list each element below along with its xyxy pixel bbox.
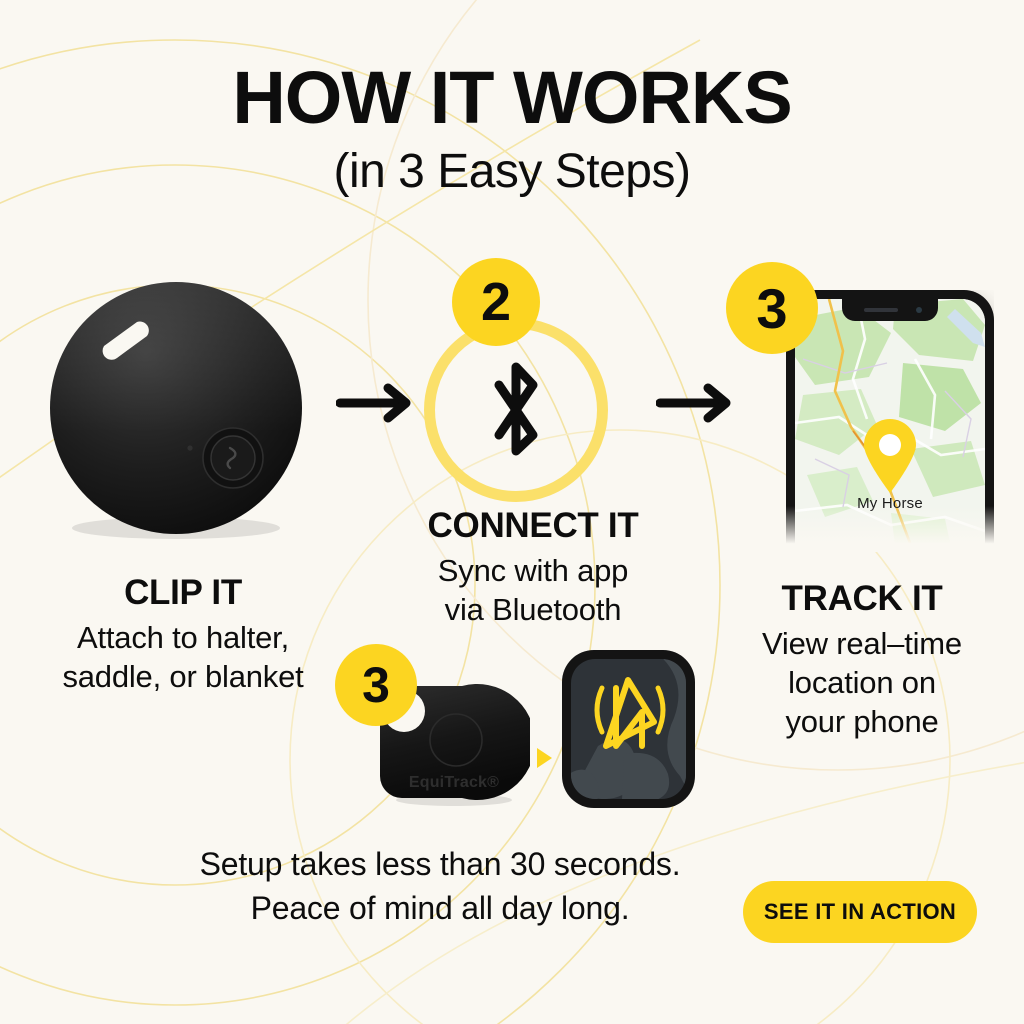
step-3-desc-line3: your phone: [785, 704, 938, 739]
phone-volume-down-button: [786, 440, 787, 476]
step-3-desc-line2: location on: [788, 665, 936, 700]
phone-notch: [842, 299, 938, 321]
step-1-caption: CLIP IT Attach to halter, saddle, or bla…: [8, 572, 358, 696]
step-2-description: Sync with app via Bluetooth: [388, 551, 678, 629]
step-1-description: Attach to halter, saddle, or blanket: [8, 618, 358, 696]
page-subtitle: (in 3 Easy Steps): [0, 143, 1024, 201]
phone-speaker: [864, 308, 898, 312]
step-1-title: CLIP IT: [8, 572, 358, 614]
phone-power-button: [993, 410, 994, 458]
bluetooth-icon: [481, 355, 551, 467]
triangle-right-icon: [537, 748, 552, 768]
step-2-desc-line1: Sync with app: [438, 553, 628, 588]
step-3-title: TRACK IT: [700, 578, 1024, 620]
equitrack-device: [562, 650, 695, 808]
tag-brand-label: EquiTrack®: [378, 774, 530, 792]
arrow-right-icon-1: [336, 382, 418, 424]
step-1-desc-line2: saddle, or blanket: [62, 659, 303, 694]
step-3-badge: 3: [726, 262, 818, 354]
page-title: HOW IT WORKS: [0, 58, 1024, 138]
phone-mute-button: [786, 362, 787, 384]
bottom-product-badge: 3: [335, 644, 417, 726]
step-1-desc-line1: Attach to halter,: [77, 620, 289, 655]
tracker-disc-icon: [44, 278, 308, 542]
map-pin-icon: [860, 417, 920, 495]
step-3-description: View real–time location on your phone: [700, 624, 1024, 741]
step-2-caption: CONNECT IT Sync with app via Bluetooth: [388, 505, 678, 629]
footer-text: Setup takes less than 30 seconds. Peace …: [120, 842, 760, 930]
phone-mockup: My Horse: [786, 290, 994, 552]
infographic-canvas: HOW IT WORKS (in 3 Easy Steps) CLIP IT: [0, 0, 1024, 1024]
step-2-title: CONNECT IT: [388, 505, 678, 547]
phone-bottom-fade: [786, 506, 994, 552]
footer-line-1: Setup takes less than 30 seconds.: [200, 846, 681, 882]
phone-volume-up-button: [786, 396, 787, 432]
step-3-caption: TRACK IT View real–time location on your…: [700, 578, 1024, 741]
step-3-desc-line1: View real–time: [762, 626, 962, 661]
phone-front-camera-icon: [916, 307, 922, 313]
see-it-in-action-button[interactable]: SEE IT IN ACTION: [743, 881, 977, 943]
step-2-desc-line2: via Bluetooth: [445, 592, 622, 627]
footer-line-2: Peace of mind all day long.: [251, 890, 630, 926]
step-2-badge: 2: [452, 258, 540, 346]
arrow-right-icon-2: [656, 382, 738, 424]
